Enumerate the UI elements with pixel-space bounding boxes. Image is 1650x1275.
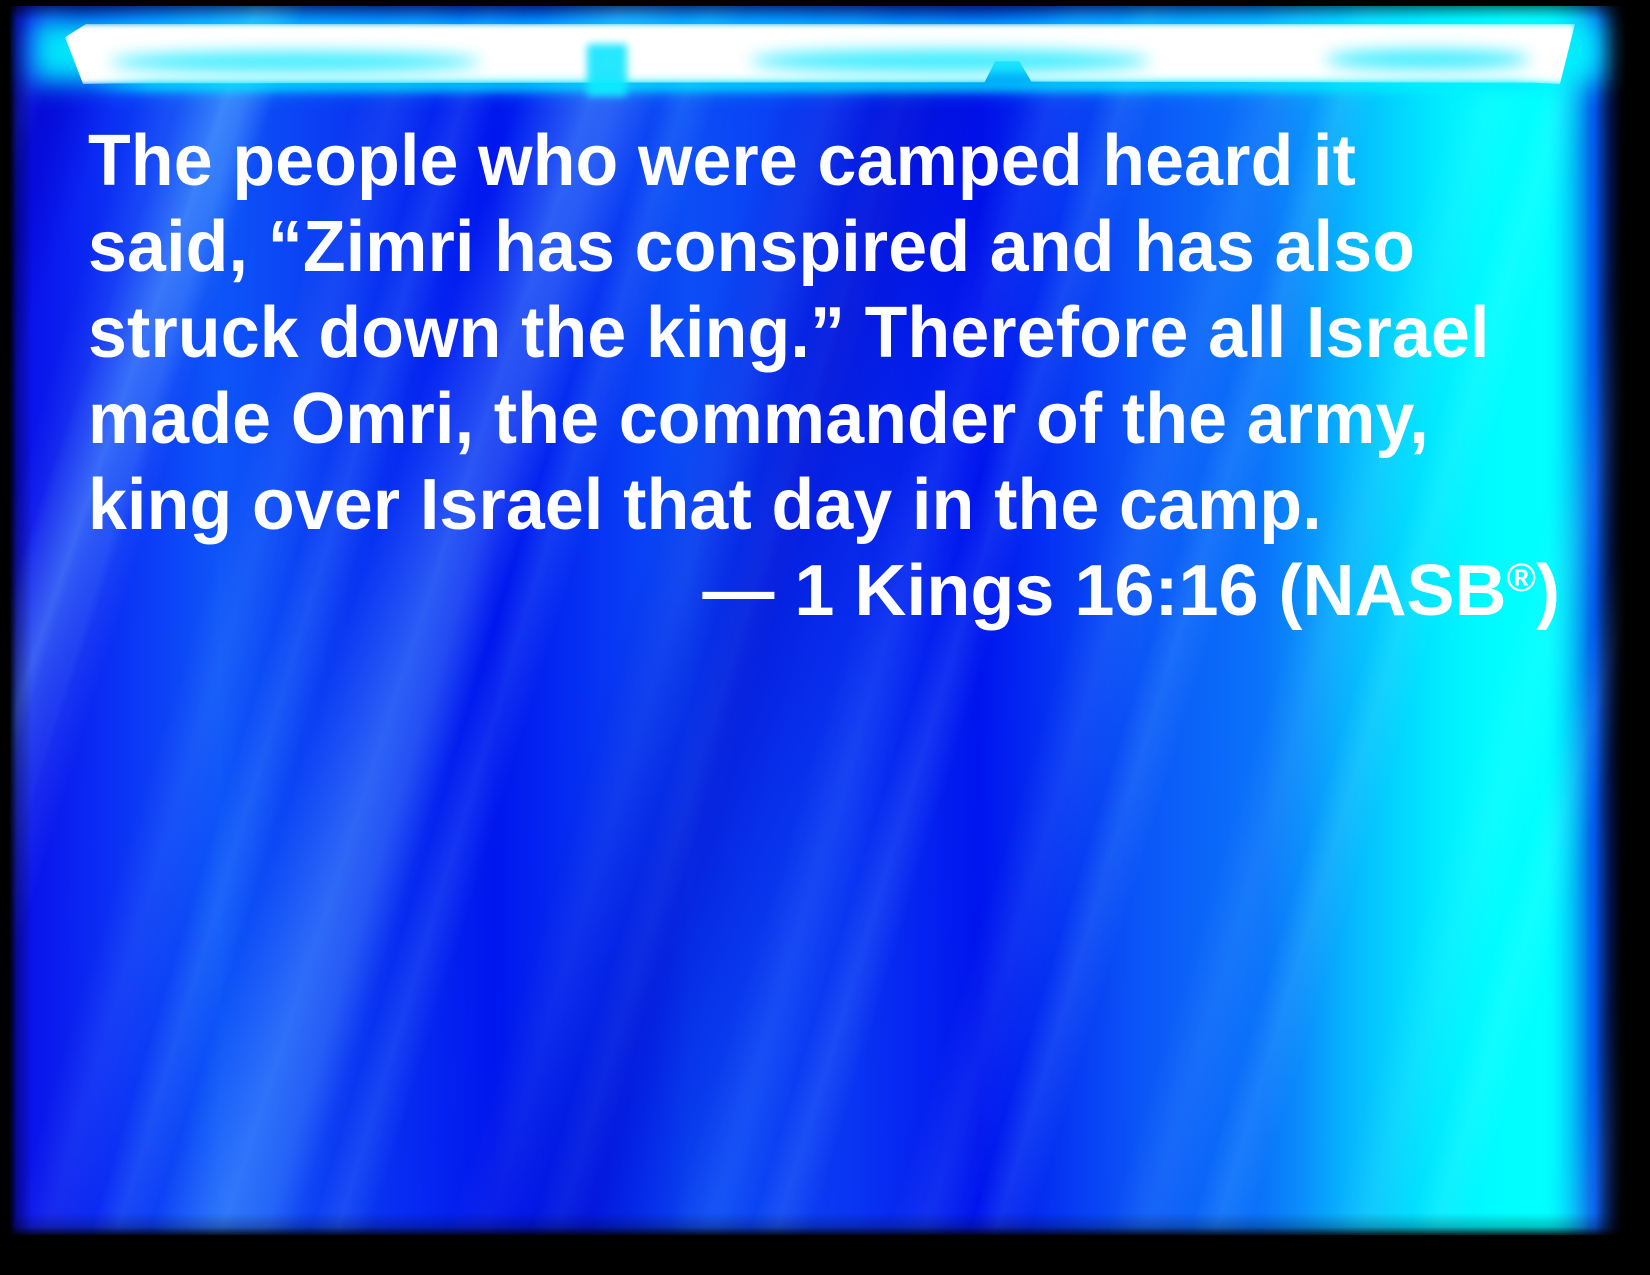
verse-line-2: said, “Zimri has conspired and has also bbox=[88, 204, 1514, 290]
registered-trademark-icon: ® bbox=[1507, 556, 1536, 600]
verse-line-5: king over Israel that day in the camp. bbox=[88, 462, 1514, 548]
verse-attribution: — 1 Kings 16:16 (NASB®) bbox=[88, 548, 1560, 634]
attribution-prefix: — 1 Kings 16:16 (NASB bbox=[702, 551, 1506, 631]
verse-line-4: made Omri, the commander of the army, bbox=[88, 376, 1514, 462]
verse-line-3: struck down the king.” Therefore all Isr… bbox=[88, 290, 1514, 376]
verse-line-1: The people who were camped heard it bbox=[88, 118, 1514, 204]
verse-text: The people who were camped heard it said… bbox=[88, 118, 1558, 548]
slide-canvas: The people who were camped heard it said… bbox=[10, 6, 1625, 1235]
verse-slide: The people who were camped heard it said… bbox=[0, 0, 1650, 1275]
attribution-suffix: ) bbox=[1536, 551, 1560, 631]
